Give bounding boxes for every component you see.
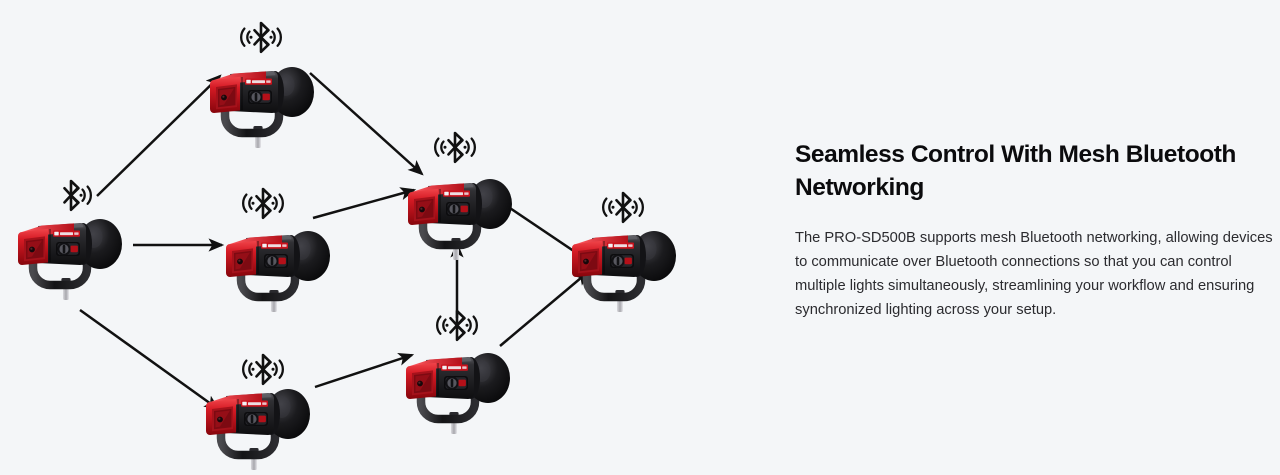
network-node-light-right[interactable] [562,192,682,312]
led-light-fixture [396,340,516,434]
network-node-light-top[interactable] [200,28,320,148]
led-light-fixture [196,376,316,470]
network-node-light-center[interactable] [398,140,518,260]
mesh-network-diagram [0,0,720,450]
network-node-light-left[interactable] [8,180,128,300]
led-light-fixture [398,166,518,260]
bluetooth-signal-both-icon [236,186,290,216]
bluetooth-signal-both-icon [234,20,288,50]
bluetooth-signal-both-icon [596,190,650,220]
bluetooth-signal-right-icon [44,178,98,208]
led-light-fixture [216,218,336,312]
led-light-fixture [200,54,320,148]
led-light-fixture [562,218,682,312]
product-feature-section: Seamless Control With Mesh Bluetooth Net… [0,0,1280,450]
feature-description: The PRO-SD500B supports mesh Bluetooth n… [795,226,1280,322]
led-light-fixture [8,206,128,300]
bluetooth-signal-both-icon [430,308,484,338]
network-node-light-mid-left[interactable] [216,192,336,312]
feature-text-panel: Seamless Control With Mesh Bluetooth Net… [795,138,1280,322]
network-node-light-bottom-left[interactable] [196,350,316,470]
network-node-light-bottom-center[interactable] [396,314,516,434]
bluetooth-signal-both-icon [428,130,482,160]
page-title: Seamless Control With Mesh Bluetooth Net… [795,138,1265,204]
